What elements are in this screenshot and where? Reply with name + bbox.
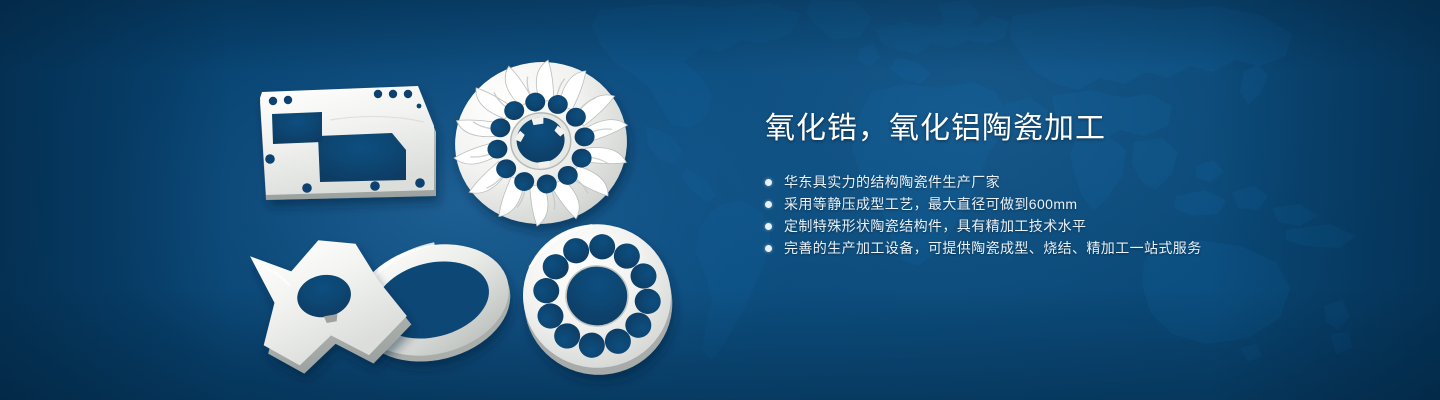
feature-item: 定制特殊形状陶瓷结构件，具有精加工技术水平 (765, 216, 1365, 237)
feature-text: 采用等静压成型工艺，最大直径可做到600mm (784, 194, 1077, 215)
product-photo-group (0, 0, 720, 400)
feature-item: 完善的生产加工设备，可提供陶瓷成型、烧结、精加工一站式服务 (765, 238, 1365, 259)
feature-item: 华东具实力的结构陶瓷件生产厂家 (765, 172, 1365, 193)
hero-banner: 氧化锆，氧化铝陶瓷加工 华东具实力的结构陶瓷件生产厂家 采用等静压成型工艺，最大… (0, 0, 1440, 400)
bullet-dot-icon (765, 245, 772, 252)
bullet-dot-icon (765, 179, 772, 186)
ceramic-impeller-disc (442, 48, 640, 238)
banner-headline: 氧化锆，氧化铝陶瓷加工 (765, 108, 1365, 150)
feature-item: 采用等静压成型工艺，最大直径可做到600mm (765, 194, 1365, 215)
ceramic-perforated-disc (515, 217, 680, 382)
feature-text: 华东具实力的结构陶瓷件生产厂家 (784, 172, 1000, 193)
feature-list: 华东具实力的结构陶瓷件生产厂家 采用等静压成型工艺，最大直径可做到600mm 定… (765, 172, 1365, 259)
bullet-dot-icon (765, 223, 772, 230)
banner-text-block: 氧化锆，氧化铝陶瓷加工 华东具实力的结构陶瓷件生产厂家 采用等静压成型工艺，最大… (765, 108, 1365, 260)
ceramic-flat-plate (260, 86, 436, 200)
feature-text: 定制特殊形状陶瓷结构件，具有精加工技术水平 (784, 216, 1086, 237)
ceramic-cross-part (247, 227, 416, 382)
feature-text: 完善的生产加工设备，可提供陶瓷成型、烧结、精加工一站式服务 (784, 238, 1202, 259)
bullet-dot-icon (765, 201, 772, 208)
